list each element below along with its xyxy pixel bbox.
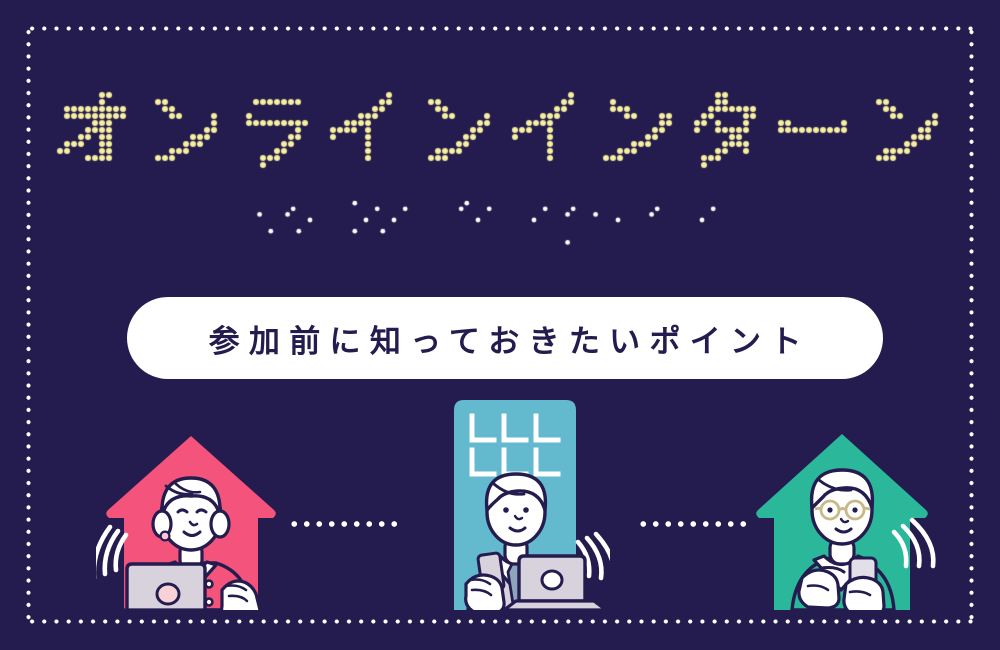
illustration-right-home-man: [744, 422, 940, 610]
headline-line-1: [0, 78, 1000, 200]
poster-canvas: 参加前に知っておきたいポイント: [0, 0, 1000, 650]
illustration-row: [0, 388, 1000, 610]
hand-holding-phone: [466, 575, 504, 610]
wifi-waves-icon: [96, 527, 126, 578]
subtitle-pill: 参加前に知っておきたいポイント: [127, 297, 883, 379]
border-edge-top: [26, 26, 974, 31]
hand-holding-phone: [844, 577, 884, 610]
subtitle-pill-label: 参加前に知っておきたいポイント: [199, 316, 810, 361]
connector-dots-right: [637, 521, 749, 527]
headline-line-2: [0, 190, 1000, 286]
illustration-center-office-man: [420, 388, 610, 610]
border-edge-bottom: [26, 619, 974, 624]
illustration-left-home-woman: [96, 424, 286, 610]
connector-dots-left: [288, 521, 400, 527]
